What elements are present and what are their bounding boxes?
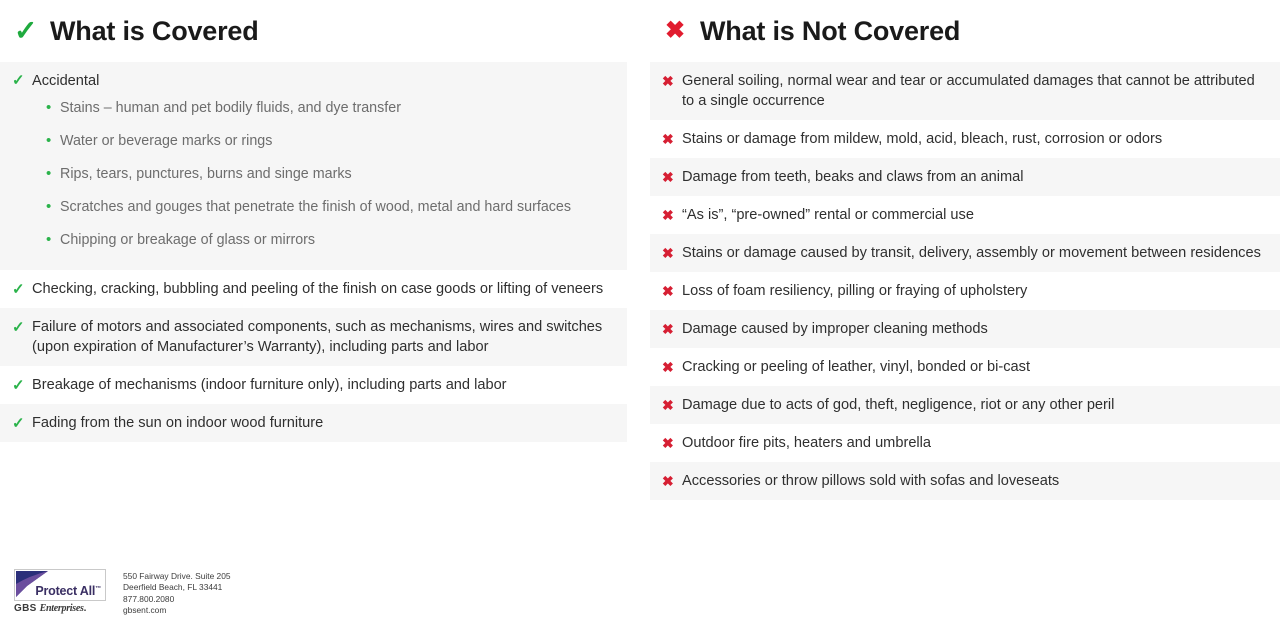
bullet-dot-icon: • xyxy=(46,231,60,249)
not-covered-row: ✖ Accessories or throw pillows sold with… xyxy=(650,462,1280,500)
not-covered-row: ✖ “As is”, “pre-owned” rental or commerc… xyxy=(650,196,1280,234)
cross-icon: ✖ xyxy=(662,357,682,377)
website-url[interactable]: gbsent.com xyxy=(123,605,231,616)
bullet-text: Scratches and gouges that penetrate the … xyxy=(60,198,571,216)
covered-column: ✓ What is Covered ✓ Accidental • Stains … xyxy=(0,0,627,500)
logo-wordmark: Protect All™ xyxy=(35,584,101,598)
logo-tagline: GBS Enterprises. xyxy=(14,603,106,614)
not-covered-row-text: General soiling, normal wear and tear or… xyxy=(682,71,1270,111)
covered-row: ✓ Failure of motors and associated compo… xyxy=(0,308,627,366)
covered-row-text: Checking, cracking, bubbling and peeling… xyxy=(32,279,617,299)
not-covered-row-text: Damage due to acts of god, theft, neglig… xyxy=(682,395,1270,415)
covered-row-text: Failure of motors and associated compone… xyxy=(32,317,617,357)
brand-logo: Protect All™ GBS Enterprises. xyxy=(14,569,106,614)
list-item: • Stains – human and pet bodily fluids, … xyxy=(46,91,617,124)
covered-title: What is Covered xyxy=(50,16,259,47)
not-covered-header: ✖ What is Not Covered xyxy=(650,0,1280,62)
cross-icon: ✖ xyxy=(662,281,682,301)
accidental-group-header: ✓ Accidental xyxy=(12,71,617,91)
bullet-dot-icon: • xyxy=(46,165,60,183)
check-icon: ✓ xyxy=(12,279,32,299)
not-covered-row-text: Outdoor fire pits, heaters and umbrella xyxy=(682,433,1270,453)
cross-icon: ✖ xyxy=(662,395,682,415)
not-covered-row-text: Loss of foam resiliency, pilling or fray… xyxy=(682,281,1270,301)
check-icon: ✓ xyxy=(14,17,36,45)
not-covered-row-text: Damage from teeth, beaks and claws from … xyxy=(682,167,1270,187)
not-covered-column: ✖ What is Not Covered ✖ General soiling,… xyxy=(650,0,1280,500)
not-covered-title: What is Not Covered xyxy=(700,16,960,47)
covered-row: ✓ Breakage of mechanisms (indoor furnitu… xyxy=(0,366,627,404)
accidental-bullet-list: • Stains – human and pet bodily fluids, … xyxy=(12,91,617,256)
phone-number: 877.800.2080 xyxy=(123,594,231,605)
cross-icon: ✖ xyxy=(662,319,682,339)
accidental-label: Accidental xyxy=(32,71,99,91)
bullet-dot-icon: • xyxy=(46,132,60,150)
cross-icon: ✖ xyxy=(662,129,682,149)
company-address: 550 Fairway Drive. Suite 205 Deerfield B… xyxy=(123,569,231,616)
list-item: • Chipping or breakage of glass or mirro… xyxy=(46,223,617,256)
check-icon: ✓ xyxy=(12,375,32,395)
list-item: • Rips, tears, punctures, burns and sing… xyxy=(46,157,617,190)
bullet-dot-icon: • xyxy=(46,198,60,216)
cross-icon: ✖ xyxy=(664,19,686,43)
not-covered-row: ✖ Damage from teeth, beaks and claws fro… xyxy=(650,158,1280,196)
not-covered-row: ✖ Loss of foam resiliency, pilling or fr… xyxy=(650,272,1280,310)
column-gap xyxy=(627,0,650,500)
not-covered-row-text: “As is”, “pre-owned” rental or commercia… xyxy=(682,205,1270,225)
not-covered-row-text: Accessories or throw pillows sold with s… xyxy=(682,471,1270,491)
not-covered-row: ✖ Stains or damage from mildew, mold, ac… xyxy=(650,120,1280,158)
not-covered-row: ✖ Outdoor fire pits, heaters and umbrell… xyxy=(650,424,1280,462)
check-icon: ✓ xyxy=(12,317,32,337)
not-covered-row: ✖ Cracking or peeling of leather, vinyl,… xyxy=(650,348,1280,386)
address-line: Deerfield Beach, FL 33441 xyxy=(123,582,231,593)
check-icon: ✓ xyxy=(12,71,32,90)
not-covered-row: ✖ Damage due to acts of god, theft, negl… xyxy=(650,386,1280,424)
not-covered-row-text: Stains or damage caused by transit, deli… xyxy=(682,243,1270,263)
list-item: • Water or beverage marks or rings xyxy=(46,124,617,157)
bullet-text: Chipping or breakage of glass or mirrors xyxy=(60,231,315,249)
covered-row: ✓ Checking, cracking, bubbling and peeli… xyxy=(0,270,627,308)
covered-row-text: Breakage of mechanisms (indoor furniture… xyxy=(32,375,617,395)
two-column-layout: ✓ What is Covered ✓ Accidental • Stains … xyxy=(0,0,1280,500)
coverage-comparison-page: ✓ What is Covered ✓ Accidental • Stains … xyxy=(0,0,1280,624)
bullet-dot-icon: • xyxy=(46,99,60,117)
cross-icon: ✖ xyxy=(662,167,682,187)
accidental-group: ✓ Accidental • Stains – human and pet bo… xyxy=(0,62,627,270)
bullet-text: Stains – human and pet bodily fluids, an… xyxy=(60,99,401,117)
covered-header: ✓ What is Covered xyxy=(0,0,627,62)
address-line: 550 Fairway Drive. Suite 205 xyxy=(123,571,231,582)
logo-box: Protect All™ xyxy=(14,569,106,601)
cross-icon: ✖ xyxy=(662,205,682,225)
covered-row-text: Fading from the sun on indoor wood furni… xyxy=(32,413,617,433)
check-icon: ✓ xyxy=(12,413,32,433)
covered-row: ✓ Fading from the sun on indoor wood fur… xyxy=(0,404,627,442)
not-covered-row: ✖ Stains or damage caused by transit, de… xyxy=(650,234,1280,272)
not-covered-row: ✖ Damage caused by improper cleaning met… xyxy=(650,310,1280,348)
not-covered-row-text: Cracking or peeling of leather, vinyl, b… xyxy=(682,357,1270,377)
footer: Protect All™ GBS Enterprises. 550 Fairwa… xyxy=(14,569,231,616)
cross-icon: ✖ xyxy=(662,471,682,491)
bullet-text: Water or beverage marks or rings xyxy=(60,132,272,150)
not-covered-row-text: Stains or damage from mildew, mold, acid… xyxy=(682,129,1270,149)
cross-icon: ✖ xyxy=(662,71,682,91)
list-item: • Scratches and gouges that penetrate th… xyxy=(46,190,617,223)
not-covered-row: ✖ General soiling, normal wear and tear … xyxy=(650,62,1280,120)
not-covered-row-text: Damage caused by improper cleaning metho… xyxy=(682,319,1270,339)
bullet-text: Rips, tears, punctures, burns and singe … xyxy=(60,165,352,183)
cross-icon: ✖ xyxy=(662,433,682,453)
cross-icon: ✖ xyxy=(662,243,682,263)
